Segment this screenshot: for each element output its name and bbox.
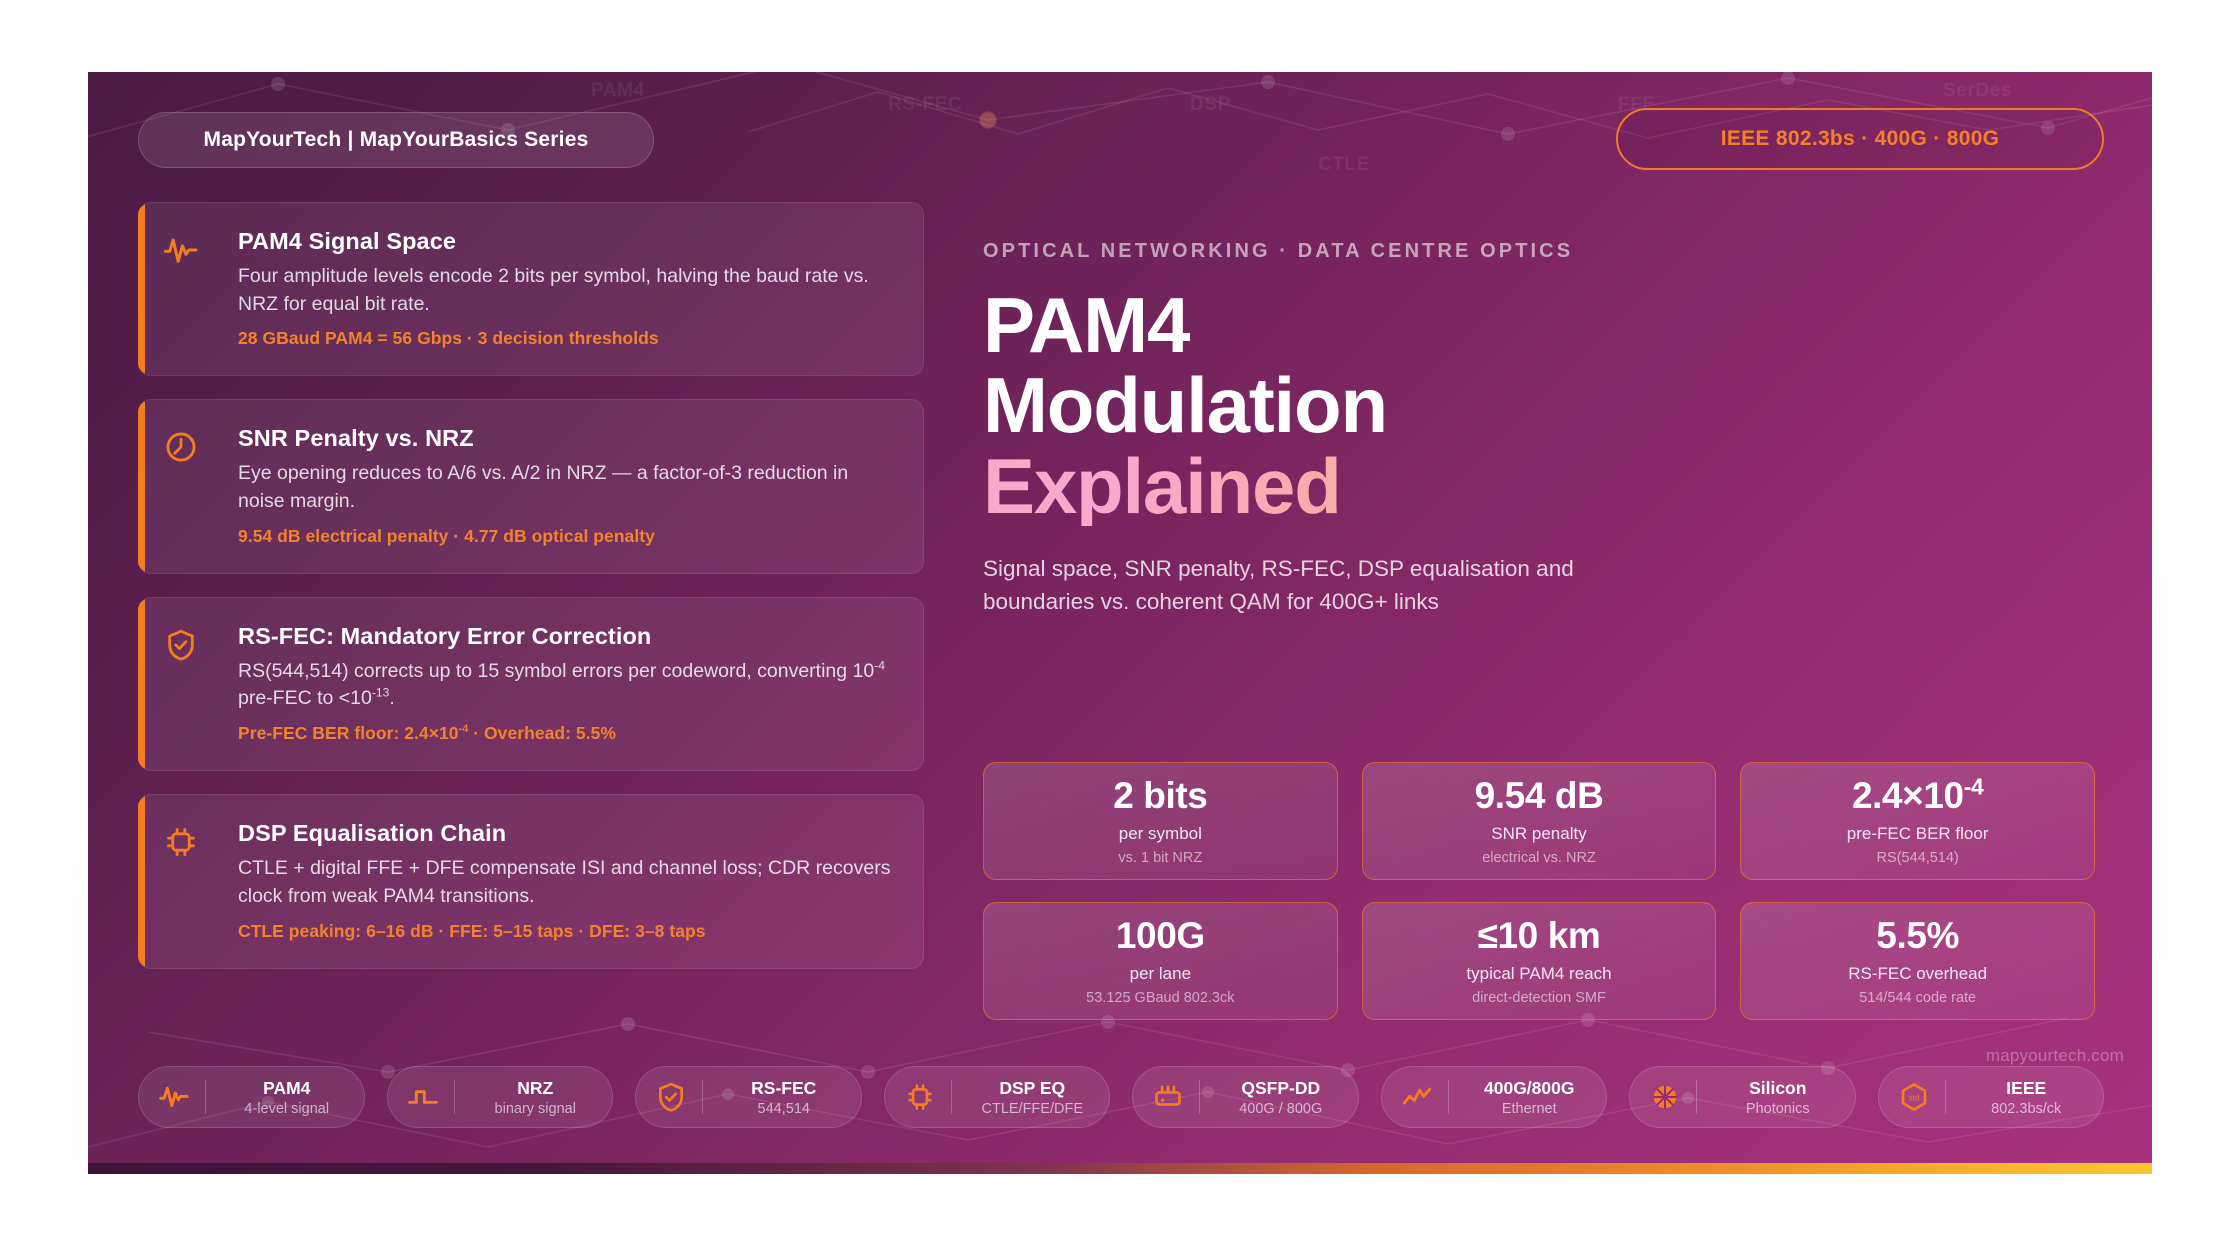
feature-card-list: PAM4 Signal Space Four amplitude levels … bbox=[138, 202, 924, 992]
std-hexagon-icon: std bbox=[1895, 1078, 1933, 1116]
stat-sublabel: vs. 1 bit NRZ bbox=[1118, 850, 1202, 866]
feature-meta: Pre-FEC BER floor: 2.4×10-4 · Overhead: … bbox=[238, 723, 897, 744]
page-title-line-3: Explained bbox=[983, 446, 2093, 526]
stat-sublabel: 53.125 GBaud 802.3ck bbox=[1086, 990, 1234, 1006]
chip-divider bbox=[1945, 1080, 1946, 1114]
page-title: PAM4 Modulation Explained bbox=[983, 285, 2093, 526]
chip-rs-fec[interactable]: RS-FEC 544,514 bbox=[635, 1066, 862, 1128]
chip-sublabel: 400G / 800G bbox=[1210, 1101, 1352, 1117]
stat-card[interactable]: 9.54 dB SNR penalty electrical vs. NRZ bbox=[1362, 762, 1717, 880]
bg-node-label-pam4: PAM4 bbox=[591, 80, 645, 102]
chip-divider bbox=[1448, 1080, 1449, 1114]
stat-card[interactable]: 2 bits per symbol vs. 1 bit NRZ bbox=[983, 762, 1338, 880]
transceiver-icon bbox=[1149, 1078, 1187, 1116]
feature-title: SNR Penalty vs. NRZ bbox=[238, 425, 897, 452]
stat-card[interactable]: 5.5% RS-FEC overhead 514/544 code rate bbox=[1740, 902, 2095, 1020]
chip-divider bbox=[951, 1080, 952, 1114]
feature-card-pam4-signal-space[interactable]: PAM4 Signal Space Four amplitude levels … bbox=[138, 202, 924, 376]
chip-title: DSP EQ bbox=[999, 1078, 1065, 1098]
stat-sublabel: direct-detection SMF bbox=[1472, 990, 1606, 1006]
chip-title: Silicon bbox=[1749, 1078, 1806, 1098]
stat-value: 2 bits bbox=[1113, 777, 1207, 814]
chip-title: IEEE bbox=[2006, 1078, 2046, 1098]
feature-card-dsp-equalisation[interactable]: DSP Equalisation Chain CTLE + digital FF… bbox=[138, 794, 924, 968]
chip-title: PAM4 bbox=[263, 1078, 310, 1098]
chip-icon bbox=[164, 825, 198, 859]
chip-nrz[interactable]: NRZ binary signal bbox=[387, 1066, 614, 1128]
hero-eyebrow: OPTICAL NETWORKING · DATA CENTRE OPTICS bbox=[983, 240, 2093, 263]
stat-label: RS-FEC overhead bbox=[1848, 964, 1987, 984]
feature-body: Eye opening reduces to A/6 vs. A/2 in NR… bbox=[238, 460, 897, 515]
chip-sublabel: Photonics bbox=[1707, 1101, 1849, 1117]
stat-value: 100G bbox=[1116, 917, 1205, 954]
square-wave-icon bbox=[404, 1078, 442, 1116]
chip-icon bbox=[901, 1078, 939, 1116]
tag-chip-row: PAM4 4-level signal NRZ binary signal bbox=[138, 1066, 2104, 1128]
stat-card[interactable]: 100G per lane 53.125 GBaud 802.3ck bbox=[983, 902, 1338, 1020]
svg-text:std: std bbox=[1908, 1092, 1920, 1102]
feature-title: DSP Equalisation Chain bbox=[238, 820, 897, 847]
stat-label: per symbol bbox=[1119, 824, 1202, 844]
chip-sublabel: 544,514 bbox=[713, 1101, 855, 1117]
stat-value: ≤10 km bbox=[1478, 917, 1601, 954]
stat-label: SNR penalty bbox=[1491, 824, 1586, 844]
chip-divider bbox=[454, 1080, 455, 1114]
waveform-icon bbox=[155, 1078, 193, 1116]
infographic-canvas: PAM4 RS-FEC DSP CTLE FFE SerDes MapYourT… bbox=[88, 72, 2152, 1174]
spec-badge-label: IEEE 802.3bs · 400G · 800G bbox=[1721, 127, 2000, 151]
chip-sublabel: Ethernet bbox=[1459, 1101, 1601, 1117]
stat-sublabel: RS(544,514) bbox=[1877, 850, 1959, 866]
photonics-icon bbox=[1646, 1078, 1684, 1116]
chip-silicon-photonics[interactable]: Silicon Photonics bbox=[1629, 1066, 1856, 1128]
hero-description: Signal space, SNR penalty, RS-FEC, DSP e… bbox=[983, 552, 1623, 619]
stat-value: 5.5% bbox=[1876, 917, 1959, 954]
stat-card[interactable]: 2.4×10-4 pre-FEC BER floor RS(544,514) bbox=[1740, 762, 2095, 880]
chip-dsp-eq[interactable]: DSP EQ CTLE/FFE/DFE bbox=[884, 1066, 1111, 1128]
chip-400g-800g[interactable]: 400G/800G Ethernet bbox=[1381, 1066, 1608, 1128]
brand-badge-label: MapYourTech | MapYourBasics Series bbox=[204, 128, 589, 152]
feature-meta: 28 GBaud PAM4 = 56 Gbps · 3 decision thr… bbox=[238, 328, 897, 349]
feature-meta: 9.54 dB electrical penalty · 4.77 dB opt… bbox=[238, 526, 897, 547]
feature-body: CTLE + digital FFE + DFE compensate ISI … bbox=[238, 855, 897, 910]
waveform-icon bbox=[164, 233, 198, 267]
chip-divider bbox=[702, 1080, 703, 1114]
bg-node-label-ctle: CTLE bbox=[1318, 154, 1370, 176]
shield-check-icon bbox=[164, 628, 198, 662]
chip-ieee[interactable]: std IEEE 802.3bs/ck bbox=[1878, 1066, 2105, 1128]
stat-card[interactable]: ≤10 km typical PAM4 reach direct-detecti… bbox=[1362, 902, 1717, 1020]
stat-sublabel: electrical vs. NRZ bbox=[1482, 850, 1596, 866]
feature-meta: CTLE peaking: 6–16 dB · FFE: 5–15 taps ·… bbox=[238, 921, 897, 942]
trend-line-icon bbox=[1398, 1078, 1436, 1116]
chip-title: QSFP-DD bbox=[1241, 1078, 1320, 1098]
stat-sublabel: 514/544 code rate bbox=[1859, 990, 1976, 1006]
chip-sublabel: binary signal bbox=[465, 1101, 607, 1117]
chip-sublabel: 4-level signal bbox=[216, 1101, 358, 1117]
chip-divider bbox=[1696, 1080, 1697, 1114]
stat-grid: 2 bits per symbol vs. 1 bit NRZ 9.54 dB … bbox=[983, 762, 2095, 1020]
chip-sublabel: 802.3bs/ck bbox=[1956, 1101, 2098, 1117]
bg-node-label-serdes: SerDes bbox=[1943, 80, 2012, 102]
stat-label: typical PAM4 reach bbox=[1466, 964, 1611, 984]
feature-title: PAM4 Signal Space bbox=[238, 228, 897, 255]
feature-card-snr-penalty[interactable]: SNR Penalty vs. NRZ Eye opening reduces … bbox=[138, 399, 924, 573]
brand-badge[interactable]: MapYourTech | MapYourBasics Series bbox=[138, 112, 654, 168]
bg-node-label-rsfec: RS-FEC bbox=[888, 94, 962, 116]
chip-pam4[interactable]: PAM4 4-level signal bbox=[138, 1066, 365, 1128]
feature-body: Four amplitude levels encode 2 bits per … bbox=[238, 263, 897, 318]
spec-badge[interactable]: IEEE 802.3bs · 400G · 800G bbox=[1616, 108, 2104, 170]
stat-label: per lane bbox=[1130, 964, 1191, 984]
watermark: mapyourtech.com bbox=[1986, 1046, 2124, 1066]
chip-divider bbox=[1199, 1080, 1200, 1114]
stat-label: pre-FEC BER floor bbox=[1847, 824, 1989, 844]
bg-node-label-dsp: DSP bbox=[1190, 94, 1231, 116]
stat-value: 2.4×10-4 bbox=[1852, 777, 1983, 814]
shield-check-icon bbox=[652, 1078, 690, 1116]
chip-qsfp-dd[interactable]: QSFP-DD 400G / 800G bbox=[1132, 1066, 1359, 1128]
hero-block: OPTICAL NETWORKING · DATA CENTRE OPTICS … bbox=[983, 240, 2093, 619]
chip-title: RS-FEC bbox=[751, 1078, 816, 1098]
chip-title: NRZ bbox=[517, 1078, 553, 1098]
feature-title: RS-FEC: Mandatory Error Correction bbox=[238, 623, 897, 650]
page-title-line-1: PAM4 bbox=[983, 285, 2093, 365]
feature-body: RS(544,514) corrects up to 15 symbol err… bbox=[238, 658, 897, 713]
accent-bar bbox=[88, 1163, 2152, 1174]
stat-value: 9.54 dB bbox=[1475, 777, 1604, 814]
chip-sublabel: CTLE/FFE/DFE bbox=[962, 1101, 1104, 1117]
chip-title: 400G/800G bbox=[1484, 1078, 1574, 1098]
page-title-line-2: Modulation bbox=[983, 365, 2093, 445]
feature-card-rs-fec[interactable]: RS-FEC: Mandatory Error Correction RS(54… bbox=[138, 597, 924, 771]
clock-icon bbox=[164, 430, 198, 464]
chip-divider bbox=[205, 1080, 206, 1114]
